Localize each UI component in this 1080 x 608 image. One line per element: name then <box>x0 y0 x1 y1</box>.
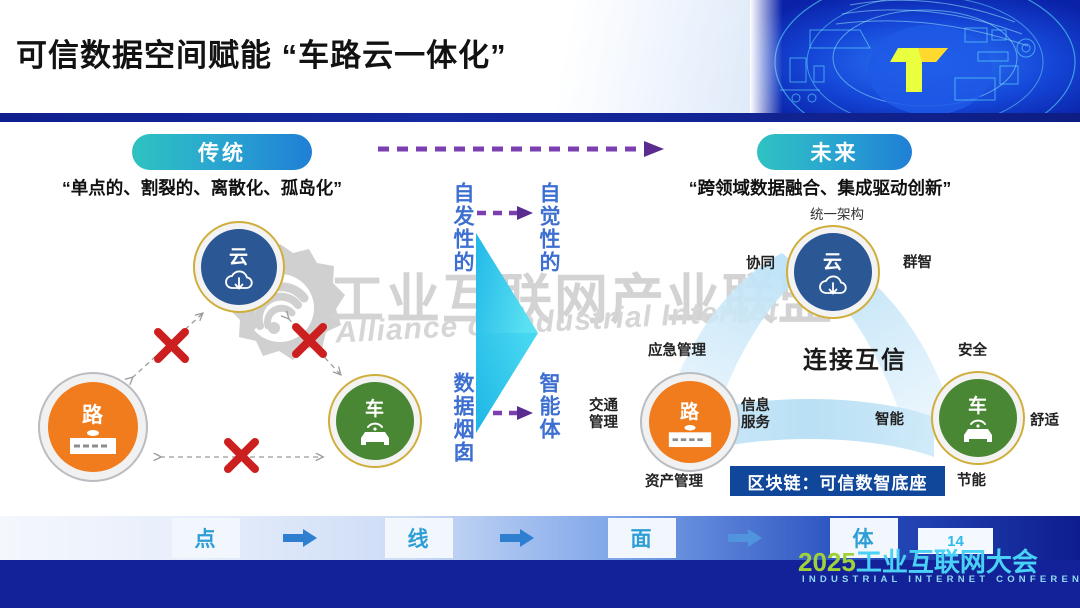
center-label-trusted-connection: 连接互信 <box>775 340 935 375</box>
conference-name-cn-text: 工业互联网大会 <box>856 547 1038 577</box>
car-icon <box>355 421 395 449</box>
label-traffic-management-line1: 交通 <box>589 398 618 415</box>
label-spontaneous: 自发性的 <box>452 182 473 274</box>
quote-future: “跨领域数据融合、集成驱动创新” <box>655 178 985 200</box>
dashed-arrow-right-icon-1 <box>477 205 535 221</box>
label-information-service-line2: 服务 <box>741 415 770 432</box>
node-label-cloud-right: 云 <box>823 247 843 274</box>
label-traffic-management: 交通 管理 <box>589 398 618 433</box>
badge-traditional: 传统 <box>132 134 312 170</box>
blue-arrow-right-icon-2 <box>500 529 534 547</box>
cloud-download-icon <box>223 269 255 293</box>
node-label-cloud-left: 云 <box>229 242 249 269</box>
conference-logo: 14 2025工业互联网大会 INDUSTRIAL INTERNET CONFE… <box>798 538 1080 608</box>
conference-name-en: INDUSTRIAL INTERNET CONFERENCE <box>802 574 1080 585</box>
node-label-car-left: 车 <box>365 394 385 421</box>
node-label-road-left: 路 <box>82 399 104 429</box>
slide-header: 可信数据空间赋能 “车路云一体化” <box>0 0 1080 115</box>
label-swarm-intelligence: 群智 <box>903 255 932 272</box>
blue-arrow-right-icon-1 <box>283 529 317 547</box>
tech-globe-graphic <box>750 0 1080 115</box>
step-line[interactable]: 线 <box>385 518 453 558</box>
node-car-left[interactable]: 车 <box>336 382 414 460</box>
label-emergency-management: 应急管理 <box>648 343 706 360</box>
label-information-service: 信息 服务 <box>741 398 770 433</box>
dashed-arrow-right-icon-top <box>378 140 668 158</box>
node-road-left[interactable]: 路 <box>48 382 138 472</box>
road-icon <box>68 429 118 455</box>
label-unified-architecture: 统一架构 <box>810 203 864 223</box>
label-asset-management: 资产管理 <box>645 474 703 491</box>
conference-year: 2025 <box>798 547 856 577</box>
label-data-silo: 数据烟囱 <box>452 372 473 464</box>
cyan-chevron-icon <box>472 233 544 433</box>
slide-root: 可信数据空间赋能 “车路云一体化” 工业互联网产业联盟 Alliance of … <box>0 0 1080 608</box>
node-label-road-right: 路 <box>680 397 700 424</box>
label-safety: 安全 <box>958 343 987 360</box>
node-cloud-left[interactable]: 云 <box>201 229 277 305</box>
road-icon <box>667 424 713 448</box>
car-icon <box>958 418 998 446</box>
label-information-service-line1: 信息 <box>741 398 770 415</box>
step-plane[interactable]: 面 <box>608 518 676 558</box>
node-road-right[interactable]: 路 <box>649 381 731 463</box>
label-comfort: 舒适 <box>1030 413 1059 430</box>
label-collaboration: 协同 <box>746 256 775 273</box>
label-intelligence: 智能 <box>875 412 904 429</box>
quote-traditional: “单点的、割裂的、离散化、孤岛化” <box>62 178 407 200</box>
cloud-download-icon <box>817 274 849 298</box>
blue-arrow-right-icon-3 <box>728 529 762 547</box>
label-traffic-management-line2: 管理 <box>589 415 618 432</box>
node-car-right[interactable]: 车 <box>939 379 1017 457</box>
label-energy-saving: 节能 <box>957 473 986 490</box>
header-divider-band <box>0 113 1080 122</box>
page-title: 可信数据空间赋能 “车路云一体化” <box>16 30 507 75</box>
node-cloud-right[interactable]: 云 <box>794 233 872 311</box>
badge-future: 未来 <box>757 134 912 170</box>
step-point[interactable]: 点 <box>172 518 240 558</box>
blockchain-bar: 区块链：可信数智底座 <box>730 466 945 496</box>
node-label-car-right: 车 <box>968 391 988 418</box>
